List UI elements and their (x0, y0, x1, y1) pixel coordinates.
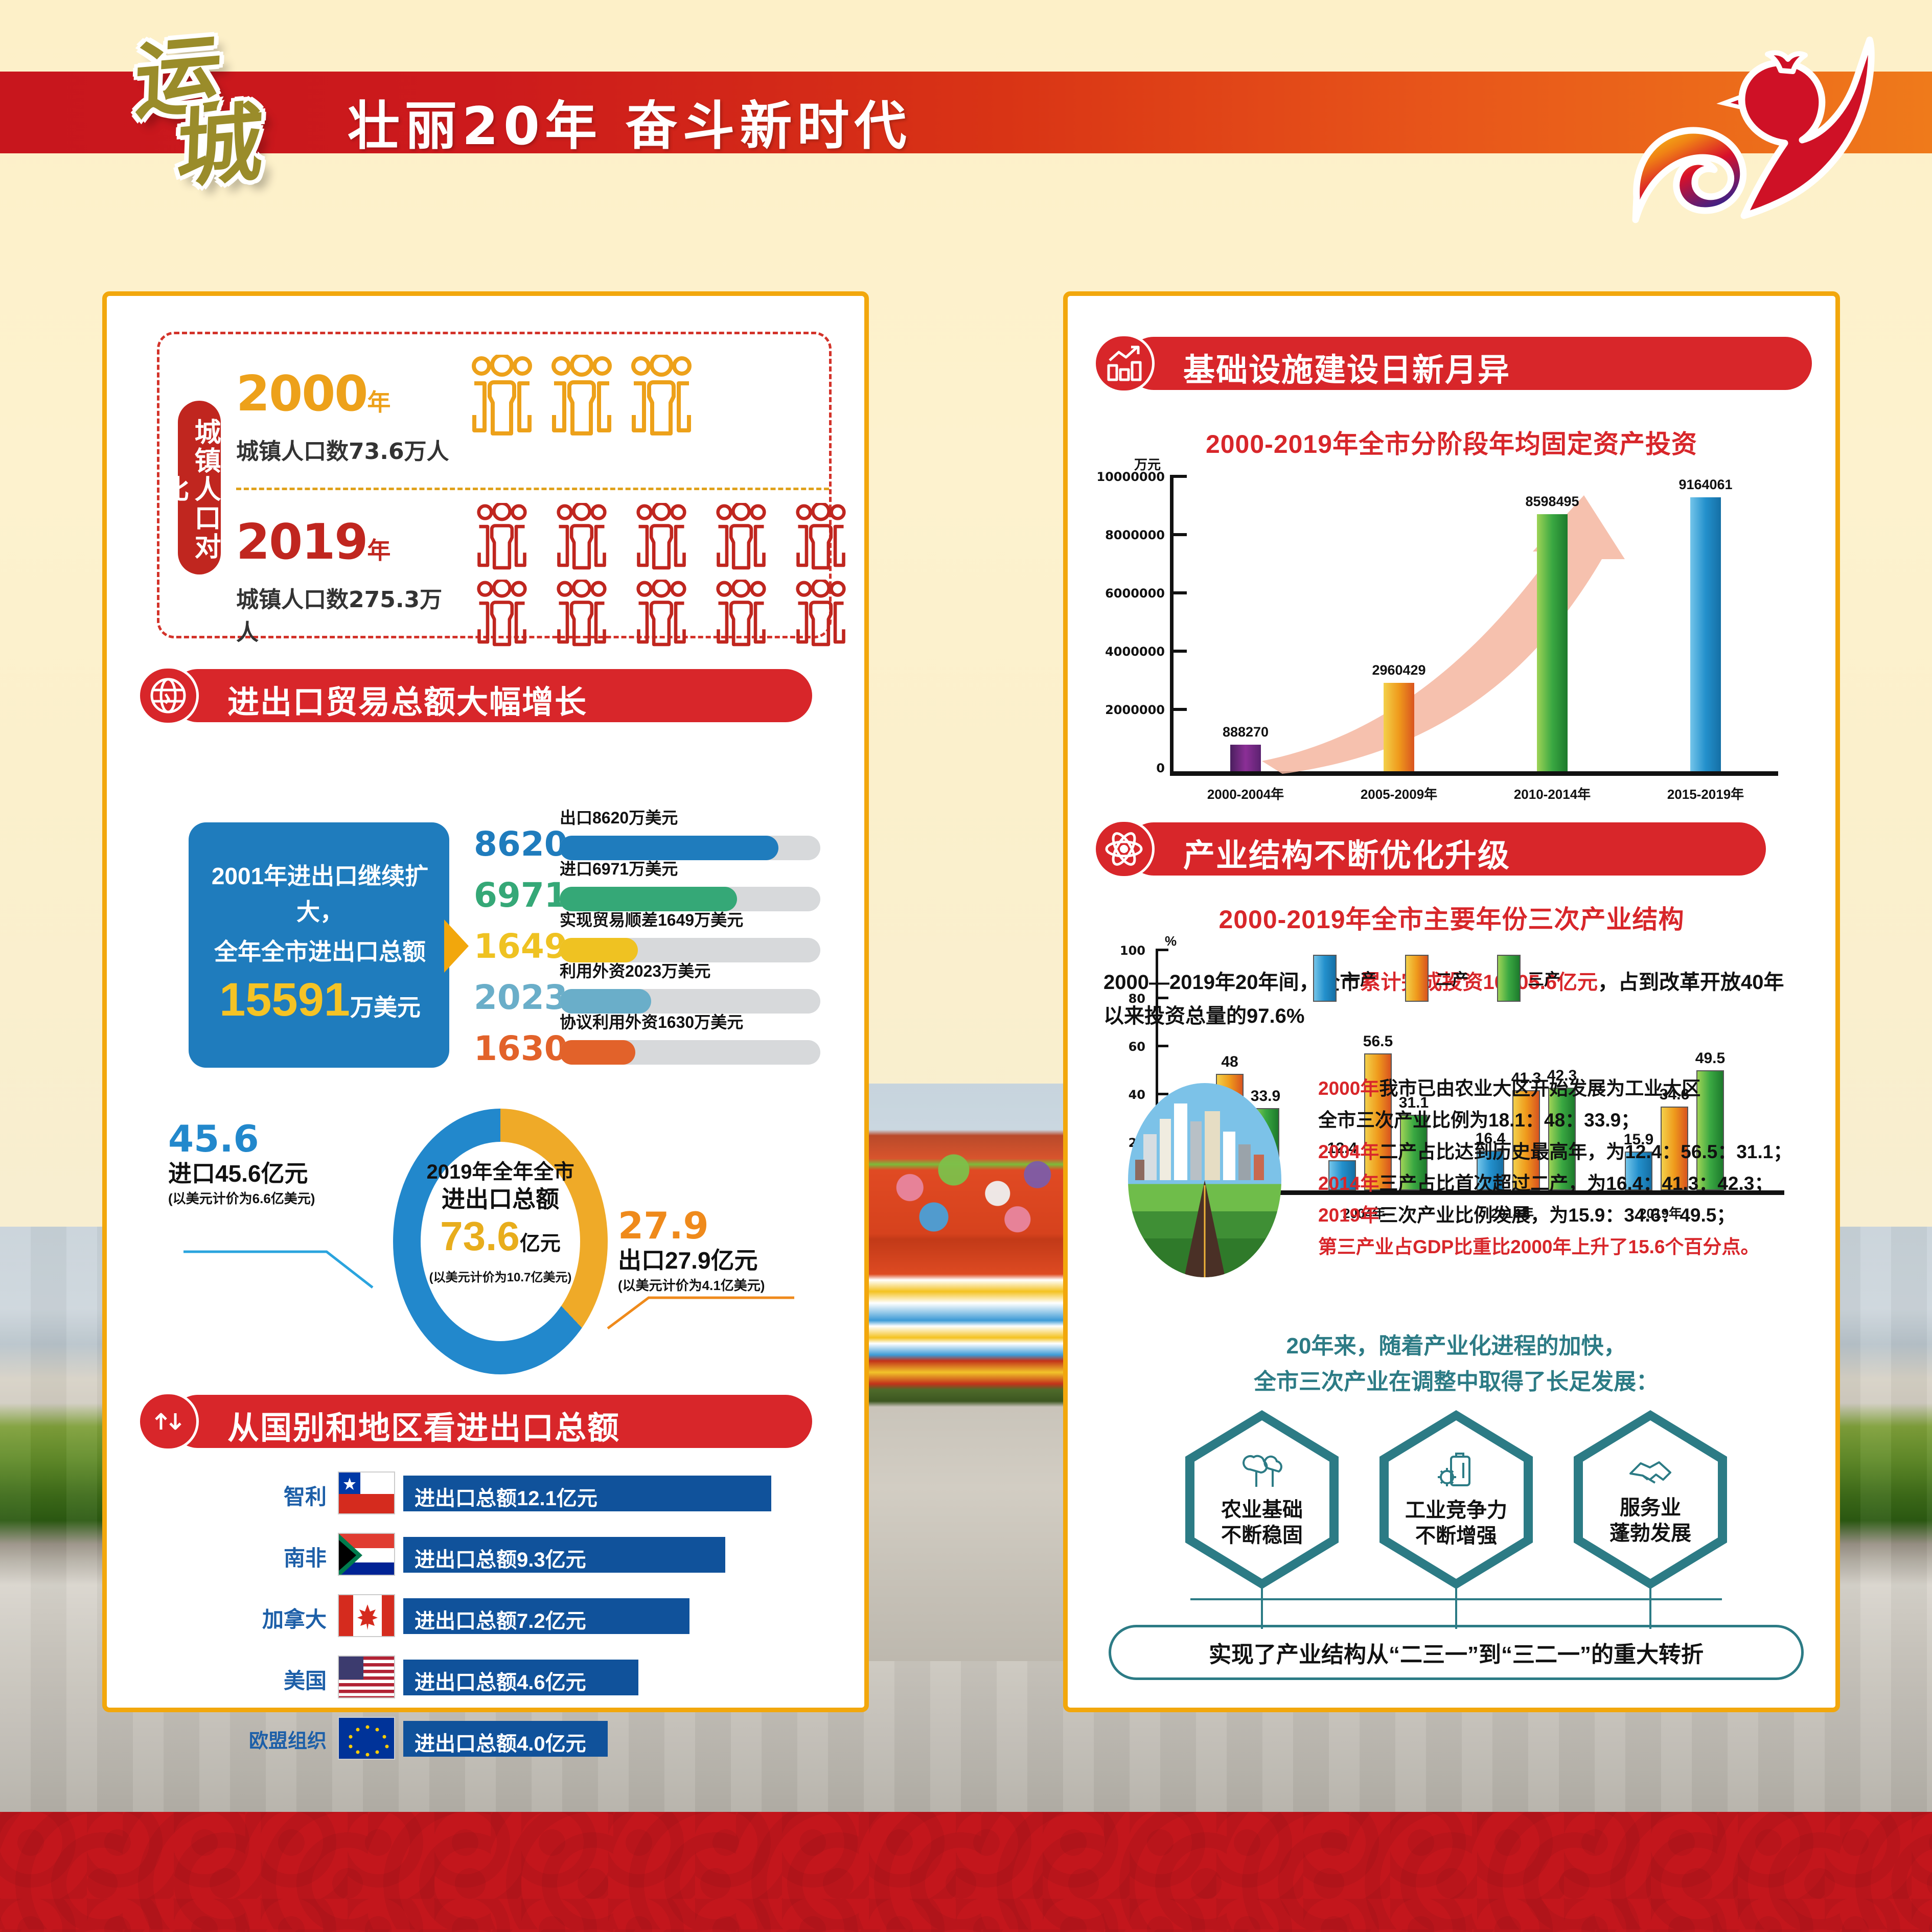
trees-icon (1240, 1451, 1284, 1491)
hex-label-line2: 不断增强 (1405, 1523, 1507, 1549)
donut-import-note: (以美元计价为6.6亿美元) (168, 1188, 373, 1207)
industry-y-unit: % (1165, 933, 1177, 949)
people-group-icon (471, 355, 533, 439)
trade-bar-row: 1630 协议利用外资1630万美元 (474, 1027, 821, 1071)
hex-stem (1649, 1584, 1651, 1629)
people-group-icon (631, 355, 692, 439)
city-road-illustration (1128, 1083, 1281, 1277)
bar-chart-arrow-icon (1093, 334, 1155, 393)
country-bar: 进出口总额12.1亿元 (403, 1476, 771, 1511)
population-icons-2019 (471, 503, 852, 656)
right-panel: 基础设施建设日新月异 2000-2019年全市分阶段年均固定资产投资 万元 10… (1063, 291, 1840, 1712)
trade-section-header: 进出口贸易总额大幅增长 (137, 669, 812, 722)
legend-label-primary: 一产 (1344, 967, 1376, 990)
invest-chart: 万元 10000000 8000000 6000000 4000000 2000… (1098, 454, 1814, 812)
invest-ytick: 10000000 (1057, 470, 1165, 484)
trade-bar-fill (560, 1040, 635, 1065)
people-group-icon (551, 503, 612, 572)
trade-bar-track (560, 1040, 820, 1065)
population-year-block-2000: 2000年 城镇人口数73.6万人 (236, 370, 451, 466)
trade-bar-label: 实现贸易顺差1649万美元 (560, 907, 743, 931)
legend-swatch-primary (1313, 955, 1337, 1002)
legend-swatch-secondary (1405, 955, 1429, 1002)
industry-tick (1158, 997, 1168, 999)
hex-label-line1: 农业基础 (1221, 1497, 1303, 1523)
population-icons-2000 (471, 355, 692, 446)
invest-xtick: 2000-2004年 (1184, 784, 1307, 803)
population-vertical-label: 城镇人口对比 (178, 401, 221, 574)
trade-section-title: 进出口贸易总额大幅增长 (171, 669, 812, 722)
globe-icon (137, 666, 199, 725)
invest-bar-label: 2960429 (1338, 662, 1460, 678)
atom-icon (1093, 819, 1155, 879)
trade-bar-value: 1649 (474, 925, 550, 969)
country-section-header: 从国别和地区看进出口总额 (137, 1395, 812, 1448)
hex-label: 服务业 蓬勃发展 (1609, 1495, 1691, 1546)
population-icon-row (471, 580, 852, 649)
industry-ytick: 40 (1038, 1088, 1145, 1102)
people-group-icon (790, 580, 852, 649)
donut-export-main: 出口27.9亿元 (618, 1246, 822, 1275)
legend-label-secondary: 二产 (1436, 967, 1468, 990)
industry-bar-label: 56.5 (1347, 1033, 1409, 1050)
people-group-icon (471, 580, 533, 649)
hex-label-line2: 蓬勃发展 (1609, 1521, 1691, 1546)
hex-label-line1: 工业竞争力 (1405, 1498, 1507, 1523)
donut-import-callout: 45.6 进口45.6亿元 (以美元计价为6.6亿美元) (168, 1119, 373, 1207)
country-bar: 进出口总额4.6亿元 (403, 1660, 638, 1695)
population-icon-row (471, 503, 852, 572)
south-africa-flag (338, 1533, 395, 1576)
handshake-icon (1627, 1453, 1673, 1489)
industry-ytick: 100 (1038, 944, 1145, 958)
invest-xtick: 2005-2009年 (1338, 784, 1460, 803)
industry-text-year: 2000年 (1318, 1078, 1379, 1099)
industry-chart-title: 2000-2019年全市主要年份三次产业结构 (1068, 899, 1835, 936)
hex-agriculture: 农业基础 不断稳固 (1185, 1410, 1339, 1589)
population-divider (236, 488, 829, 490)
hex-stem (1455, 1584, 1457, 1629)
development-lead-line2: 全市三次产业在调整中取得了长足发展： (1109, 1364, 1804, 1400)
up-down-arrows-icon (137, 1392, 199, 1451)
industry-text-line: 2019年三次产业比例发展，为15.9：34.6：49.5； (1318, 1200, 1819, 1231)
chile-flag (338, 1471, 395, 1514)
infra-section-header: 基础设施建设日新月异 (1093, 337, 1809, 390)
hex-label-line1: 服务业 (1609, 1495, 1691, 1521)
city-logo-char-2: 城 (175, 94, 325, 192)
page-title: 壮丽20年 奋斗新时代 (348, 84, 911, 159)
people-group-icon (710, 580, 772, 649)
industry-bar-label: 49.5 (1680, 1050, 1741, 1067)
invest-ytick: 2000000 (1057, 703, 1165, 717)
industry-text-final: 第三产业占GDP比重比2000年上升了15.6个百分点。 (1318, 1231, 1819, 1263)
industry-text-line: 2000年我市已由农业大区开始发展为工业大区 (1318, 1073, 1819, 1105)
trade-bar-value: 6971 (474, 873, 550, 917)
country-name: 美国 (224, 1664, 327, 1695)
trade-bar-value: 1630 (474, 1027, 550, 1071)
eu-flag (338, 1717, 395, 1760)
left-panel: 城镇人口对比 2000年 城镇人口数73.6万人 (102, 291, 869, 1712)
donut-center-note: (以美元计价为10.7亿美元) (408, 1267, 592, 1285)
population-year-2019: 2019年 (236, 518, 451, 575)
population-year-2000: 2000年 (236, 370, 451, 427)
invest-bar (1384, 683, 1414, 771)
industry-text-rest: 二产占比达到历史最高年，为12.4：56.5：31.1； (1379, 1141, 1792, 1162)
industry-text-rest: 三产占比首次超过二产，为16.4：41.3：42.3； (1379, 1173, 1773, 1194)
invest-bar (1537, 514, 1568, 771)
invest-bar (1230, 745, 1261, 771)
people-group-icon (710, 503, 772, 572)
industry-tick (1158, 1045, 1168, 1047)
industry-text-block: 2000年我市已由农业大区开始发展为工业大区 全市三次产业比例为18.1：48：… (1318, 1073, 1819, 1263)
donut-center-value: 73.6亿元 (408, 1214, 592, 1266)
invest-bar-label: 888270 (1184, 724, 1307, 740)
trade-summary-box: 2001年进出口继续扩大， 全年全市进出口总额 15591万美元 (189, 822, 449, 1068)
donut-center-labels: 2019年全年全市 进出口总额 73.6亿元 (以美元计价为10.7亿美元) (408, 1160, 592, 1285)
country-name: 加拿大 (224, 1602, 327, 1634)
industry-legend-item: 一产 (1313, 955, 1376, 1002)
trade-bar-label: 出口8620万美元 (560, 805, 678, 829)
industry-legend-item: 三产 (1497, 955, 1560, 1002)
donut-center-line2: 进出口总额 (408, 1184, 592, 1214)
bottom-red-band (0, 1812, 1932, 1932)
invest-bar (1690, 497, 1721, 771)
industry-legend-item: 二产 (1405, 955, 1468, 1002)
population-icon-row (471, 355, 692, 439)
country-section-title: 从国别和地区看进出口总额 (171, 1395, 812, 1448)
hex-services: 服务业 蓬勃发展 (1574, 1410, 1727, 1589)
hex-label: 农业基础 不断稳固 (1221, 1497, 1303, 1548)
country-bar: 进出口总额7.2亿元 (403, 1598, 689, 1634)
industry-text-year: 2019年 (1318, 1205, 1379, 1226)
donut-import-main: 进口45.6亿元 (168, 1159, 373, 1188)
people-group-icon (631, 503, 692, 572)
trade-box-line1: 2001年进出口继续扩大， (211, 858, 429, 930)
invest-y-axis (1170, 475, 1174, 774)
industry-ytick: 20 (1038, 1136, 1145, 1150)
people-group-icon (551, 580, 612, 649)
people-group-icon (551, 355, 612, 439)
invest-ytick: 8000000 (1057, 528, 1165, 542)
population-desc-2019: 城镇人口数275.3万人 (236, 581, 451, 647)
people-group-icon (790, 503, 852, 572)
legend-swatch-tertiary (1497, 955, 1521, 1002)
anniversary-20-logo (1605, 15, 1881, 240)
hex-stem (1261, 1584, 1263, 1629)
donut-export-callout: 27.9 出口27.9亿元 (以美元计价为4.1亿美元) (618, 1206, 822, 1294)
background-flower-basket-sculpture (864, 1084, 1084, 1661)
trade-box-value: 15591万美元 (211, 972, 429, 1036)
hex-label: 工业竞争力 不断增强 (1405, 1498, 1507, 1549)
city-logo-calligraphy: 运 城 (130, 22, 327, 222)
industry-section-header: 产业结构不断优化升级 (1093, 822, 1809, 876)
hex-label-line2: 不断稳固 (1221, 1523, 1303, 1548)
development-bottom-bar: 实现了产业结构从“二三一”到“三二一”的重大转折 (1109, 1625, 1804, 1680)
country-bar: 进出口总额9.3亿元 (403, 1537, 725, 1573)
industry-text-rest: 我市已由农业大区开始发展为工业大区 (1379, 1078, 1700, 1099)
invest-ytick: 6000000 (1057, 586, 1165, 601)
industry-text-year: 2014年 (1318, 1173, 1379, 1194)
country-name: 欧盟组织 (224, 1725, 327, 1753)
development-lead-text: 20年来，随着产业化进程的加快， 全市三次产业在调整中取得了长足发展： (1109, 1328, 1804, 1400)
population-row-2000: 2000年 城镇人口数73.6万人 (236, 355, 829, 482)
infra-section-title: 基础设施建设日新月异 (1127, 337, 1812, 390)
people-group-icon (631, 580, 692, 649)
invest-xtick: 2010-2014年 (1491, 784, 1614, 803)
population-year-block-2019: 2019年 城镇人口数275.3万人 (236, 518, 451, 647)
industry-ytick: 80 (1038, 992, 1145, 1006)
population-row-2019: 2019年 城镇人口数275.3万人 (236, 503, 829, 631)
donut-import-value: 45.6 (168, 1119, 373, 1159)
hex-connector-line (1190, 1598, 1722, 1600)
industry-text-rest: 全市三次产业比例为18.1：48：33.9； (1318, 1110, 1640, 1131)
donut-center-line1: 2019年全年全市 (408, 1160, 592, 1184)
industry-text-line: 2014年三产占比首次超过二产，为16.4：41.3：42.3； (1318, 1168, 1819, 1200)
invest-xtick: 2015-2019年 (1644, 784, 1767, 803)
industry-text-rest: 三次产业比例发展，为15.9：34.6：49.5； (1379, 1205, 1735, 1226)
invest-bar-label: 9164061 (1644, 477, 1767, 493)
industry-section-title: 产业结构不断优化升级 (1127, 822, 1766, 876)
usa-flag (338, 1655, 395, 1698)
industry-tick (1158, 949, 1168, 951)
trade-bar-label: 协议利用外资1630万美元 (560, 1009, 743, 1033)
people-group-icon (471, 503, 533, 572)
country-name: 智利 (224, 1480, 327, 1511)
development-lead-line1: 20年来，随着产业化进程的加快， (1109, 1328, 1804, 1364)
trade-bar-value: 2023 (474, 976, 550, 1020)
factory-gear-icon (1436, 1451, 1477, 1491)
canada-flag (338, 1594, 395, 1637)
country-bar: 进出口总额4.0亿元 (403, 1721, 608, 1757)
industry-ytick: 60 (1038, 1040, 1145, 1054)
invest-ytick: 0 (1057, 761, 1165, 775)
donut-export-value: 27.9 (618, 1206, 822, 1246)
industry-text-year: 2004年 (1318, 1141, 1379, 1162)
invest-ytick: 4000000 (1057, 645, 1165, 659)
donut-export-note: (以美元计价为4.1亿美元) (618, 1275, 822, 1294)
hex-industry: 工业竞争力 不断增强 (1379, 1410, 1533, 1589)
industry-text-line: 2004年二产占比达到历史最高年，为12.4：56.5：31.1； (1318, 1136, 1819, 1168)
invest-bar-label: 8598495 (1491, 494, 1614, 510)
population-comparison-card: 城镇人口对比 2000年 城镇人口数73.6万人 (157, 332, 832, 638)
trade-arrow (444, 919, 469, 973)
industry-bar-label: 48 (1199, 1053, 1260, 1071)
trade-box-line2: 全年全市进出口总额 (211, 934, 429, 970)
population-desc-2000: 城镇人口数73.6万人 (236, 433, 451, 466)
trade-donut-chart: 2019年全年全市 进出口总额 73.6亿元 (以美元计价为10.7亿美元) 4… (168, 1098, 812, 1385)
industry-text-line: 全市三次产业比例为18.1：48：33.9； (1318, 1105, 1819, 1136)
legend-label-tertiary: 三产 (1528, 967, 1560, 990)
trade-bar-label: 利用外资2023万美元 (560, 958, 710, 982)
country-name: 南非 (224, 1541, 327, 1572)
trade-bar-value: 8620 (474, 822, 550, 866)
trade-bar-label: 进口6971万美元 (560, 856, 678, 880)
